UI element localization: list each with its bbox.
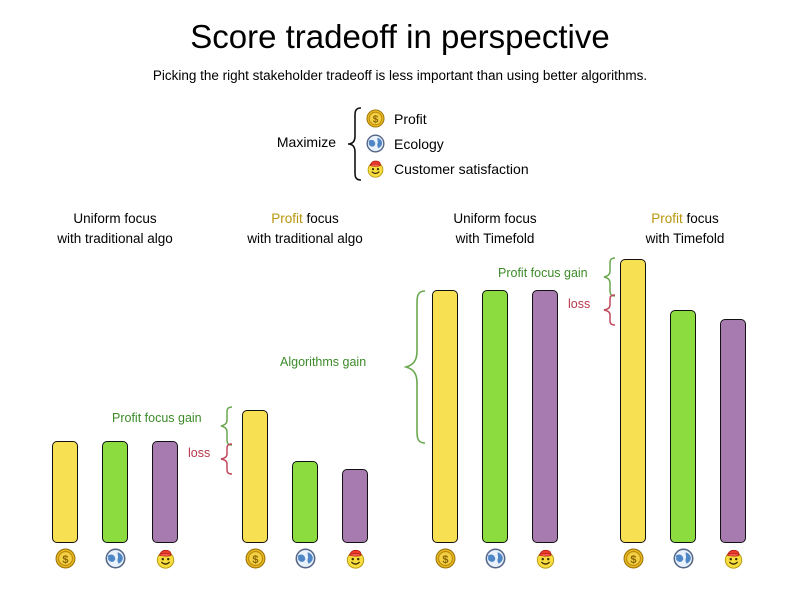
loss-brace-left-icon (219, 443, 233, 475)
algorithms-gain-brace-icon (404, 289, 426, 445)
smiley-hat-icon (345, 548, 366, 569)
svg-text:$: $ (442, 554, 448, 566)
coin-dollar-icon: $ (55, 548, 76, 569)
globe-icon (485, 548, 506, 569)
svg-text:$: $ (252, 554, 258, 566)
annotation-algorithms-gain: Algorithms gain (280, 355, 366, 369)
profit-focus-gain-brace-right-icon (602, 257, 616, 297)
annotation-loss-left: loss (188, 446, 210, 460)
coin-dollar-icon: $ (623, 548, 644, 569)
annotation-profit-focus-gain-right: Profit focus gain (498, 266, 588, 280)
bars-layer: $$$$ (0, 0, 800, 600)
bar-g3-profit (620, 259, 646, 543)
smiley-hat-icon (155, 548, 176, 569)
bar-g3-ecology (670, 310, 696, 543)
bar-g2-ecology (482, 290, 508, 543)
smiley-hat-icon (723, 548, 744, 569)
loss-brace-right-icon (602, 294, 616, 326)
chart-canvas: Score tradeoff in perspective Picking th… (0, 0, 800, 600)
smiley-hat-icon (535, 548, 556, 569)
bar-g1-ecology (292, 461, 318, 543)
profit-focus-gain-brace-left-icon (219, 406, 233, 446)
svg-text:$: $ (630, 554, 636, 566)
annotation-loss-right: loss (568, 297, 590, 311)
bar-g0-profit (52, 441, 78, 543)
bar-g2-profit (432, 290, 458, 543)
bar-g3-customer-satisfaction (720, 319, 746, 543)
svg-text:$: $ (62, 554, 68, 566)
coin-dollar-icon: $ (245, 548, 266, 569)
annotation-profit-focus-gain-left: Profit focus gain (112, 411, 202, 425)
globe-icon (105, 548, 126, 569)
bar-g1-customer-satisfaction (342, 469, 368, 543)
globe-icon (673, 548, 694, 569)
bar-g0-ecology (102, 441, 128, 543)
bar-g0-customer-satisfaction (152, 441, 178, 543)
bar-g1-profit (242, 410, 268, 543)
coin-dollar-icon: $ (435, 548, 456, 569)
globe-icon (295, 548, 316, 569)
bar-g2-customer-satisfaction (532, 290, 558, 543)
